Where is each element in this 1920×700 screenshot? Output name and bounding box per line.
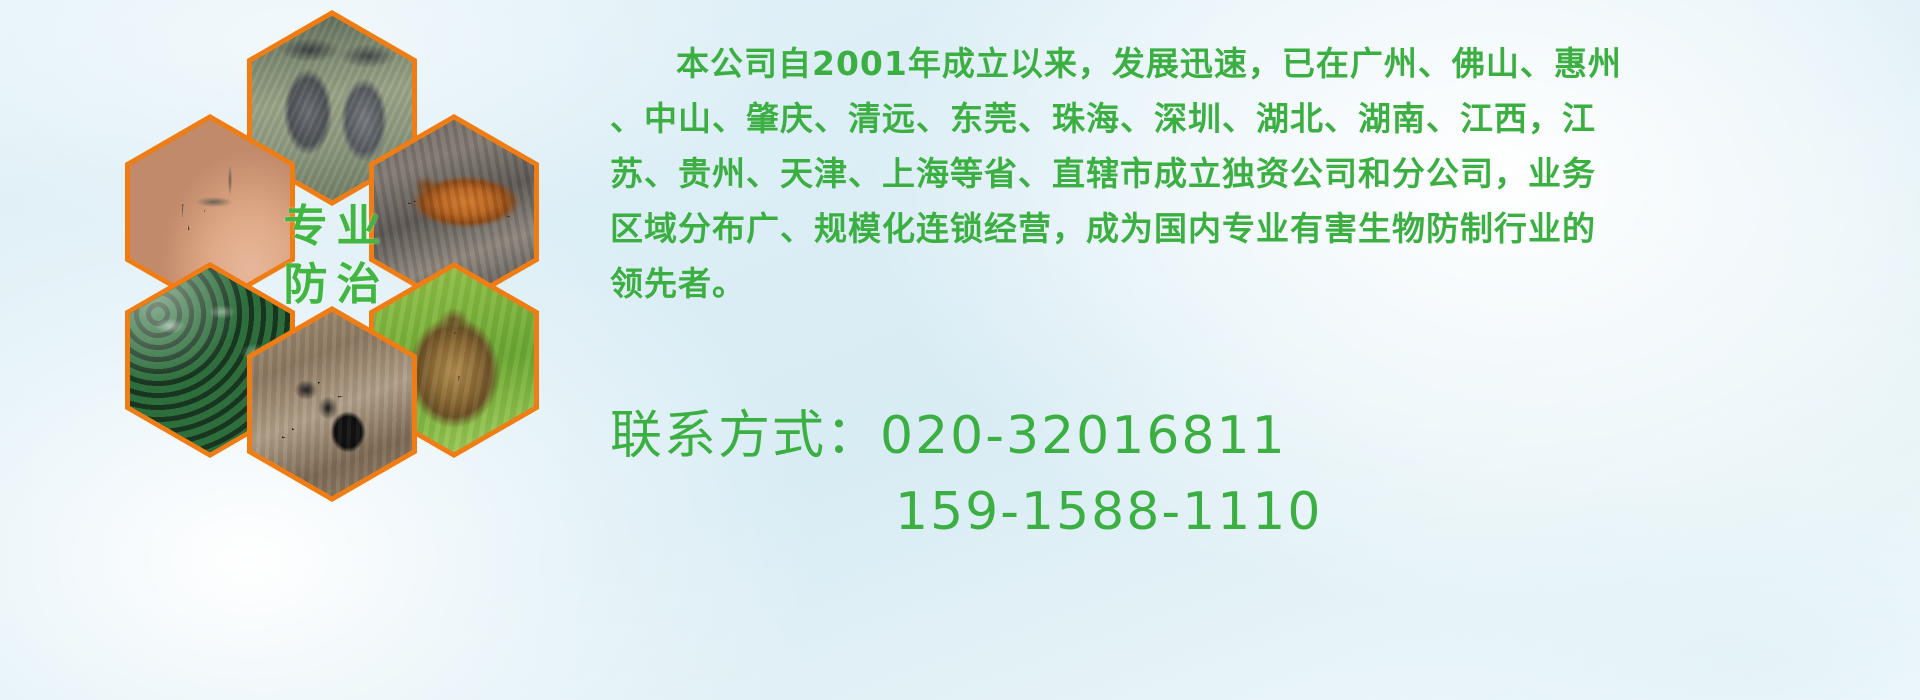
intro-line: 区域分布广、规模化连锁经营，成为国内专业有害生物防制行业的	[610, 201, 1910, 256]
company-intro-paragraph: 本公司自2001年成立以来，发展迅速，已在广州、佛山、惠州 、中山、肇庆、清远、…	[610, 36, 1910, 311]
slogan-line-2: 防治	[275, 256, 390, 314]
contact-block: 联系方式：020-32016811 159-1588-1110	[610, 398, 1910, 550]
contact-secondary-phone[interactable]: 159-1588-1110	[610, 474, 1910, 550]
honeycomb-image-cluster: 专业 防治	[95, 10, 595, 570]
contact-primary-phone[interactable]: 联系方式：020-32016811	[610, 398, 1910, 474]
intro-line: 、中山、肇庆、清远、东莞、珠海、深圳、湖北、湖南、江西，江	[610, 91, 1910, 146]
ant-photo	[252, 312, 412, 497]
banner-content: 本公司自2001年成立以来，发展迅速，已在广州、佛山、惠州 、中山、肇庆、清远、…	[610, 0, 1920, 700]
intro-line: 领先者。	[610, 256, 1910, 311]
promo-banner: 专业 防治 本公司自2001年成立以来，发展迅速，已在广州、佛山、惠州 、中山、…	[0, 0, 1920, 700]
intro-line: 苏、贵州、天津、上海等省、直辖市成立独资公司和分公司，业务	[610, 146, 1910, 201]
intro-line: 本公司自2001年成立以来，发展迅速，已在广州、佛山、惠州	[610, 36, 1910, 91]
